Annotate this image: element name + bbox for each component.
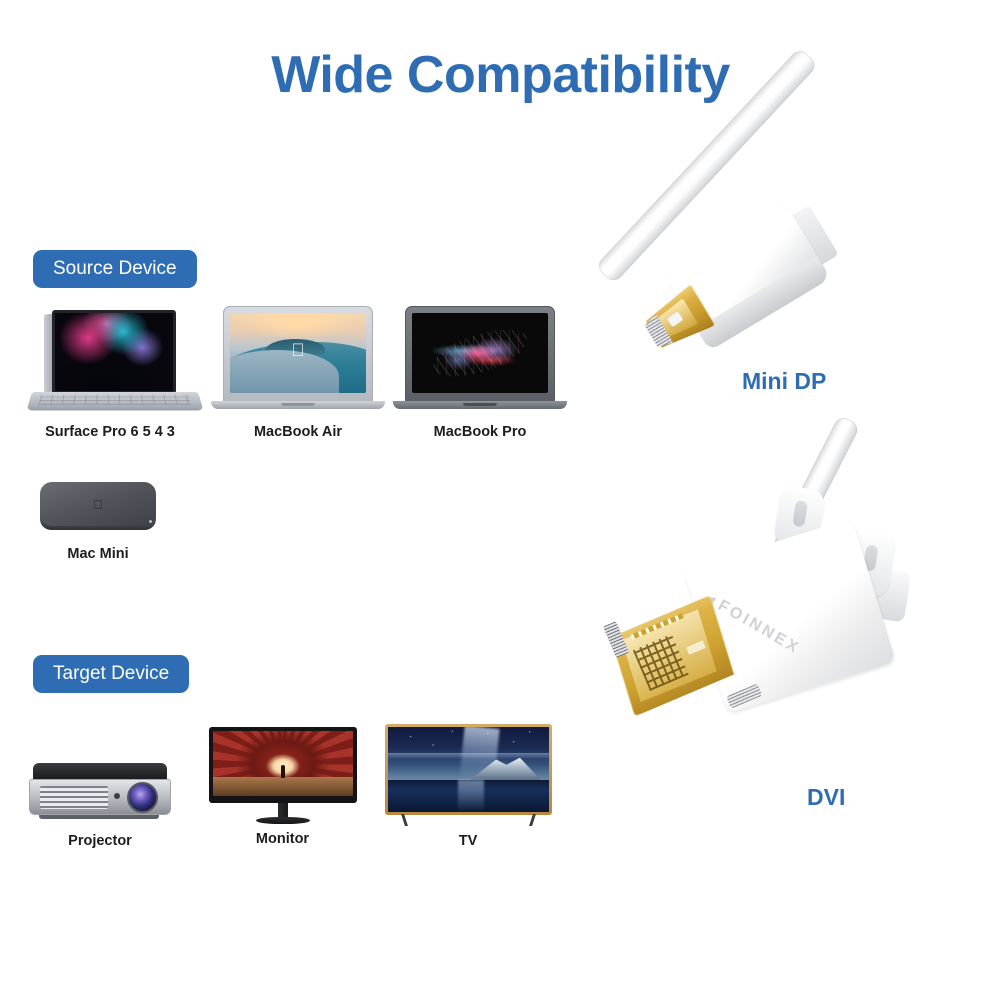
projector-lens xyxy=(127,782,158,813)
device-label: TV xyxy=(378,833,558,849)
surface-screen xyxy=(52,310,176,394)
foinnex-brand-text: FOINNEX xyxy=(715,597,803,658)
projector-icon xyxy=(25,755,175,827)
projector-vents xyxy=(40,786,108,809)
macbook-air-laptop-icon:  xyxy=(209,300,387,418)
monitor-stand-base xyxy=(256,817,310,824)
wallpaper-reflection xyxy=(458,780,484,812)
monitor-stand xyxy=(272,725,294,820)
device-tv: TV xyxy=(378,722,558,849)
monitor-icon xyxy=(203,725,363,825)
surface-keys xyxy=(39,395,192,405)
device-projector: Projector xyxy=(20,755,180,849)
device-surface-pro: Surface Pro 6 5 4 3 xyxy=(10,300,210,440)
television-icon xyxy=(381,722,556,827)
tv-bezel xyxy=(385,724,552,815)
apple-logo-icon:  xyxy=(93,498,103,511)
mac-mini-top-face:  xyxy=(40,482,156,526)
tv-foot-left xyxy=(401,814,408,826)
wallpaper-horizon-glow xyxy=(388,753,549,760)
device-monitor: Monitor xyxy=(200,725,365,847)
macbook-pro-lid xyxy=(405,306,555,403)
projector-body xyxy=(29,779,171,815)
macbook-air-screen:  xyxy=(230,313,366,393)
target-device-badge: Target Device xyxy=(33,655,189,693)
device-label: Mac Mini xyxy=(18,546,178,562)
mac-mini-desktop-icon:  xyxy=(28,470,168,540)
product-cable-illustration: ◂FOINNEX xyxy=(600,90,1001,830)
apple-logo-icon:  xyxy=(291,341,305,359)
device-label: Monitor xyxy=(200,831,365,847)
tv-foot-right xyxy=(529,814,536,826)
macbook-air-base xyxy=(211,401,385,409)
device-macbook-pro: MacBook Pro xyxy=(380,300,580,440)
macbook-pro-trackpad-notch xyxy=(463,403,497,406)
surface-wallpaper xyxy=(55,313,173,391)
device-label: Surface Pro 6 5 4 3 xyxy=(10,424,210,440)
mini-dp-label: Mini DP xyxy=(742,368,826,395)
surface-keyboard-cover xyxy=(26,392,203,410)
macbook-pro-screen xyxy=(412,313,548,393)
dvi-connector-icon: ◂FOINNEX xyxy=(592,487,975,803)
device-label: MacBook Pro xyxy=(380,424,580,440)
dvi-label: DVI xyxy=(807,784,845,811)
macbook-pro-laptop-icon xyxy=(391,300,569,418)
projector-feet xyxy=(39,815,159,819)
macbook-air-trackpad-notch xyxy=(281,403,315,406)
macbook-pro-base xyxy=(393,401,567,409)
projector-sensor xyxy=(114,793,120,799)
device-mac-mini:  Mac Mini xyxy=(18,470,178,562)
monitor-stand-neck xyxy=(278,803,288,817)
device-label: Projector xyxy=(20,833,180,849)
macbook-pro-wallpaper xyxy=(412,313,548,393)
mac-mini-power-led xyxy=(149,520,152,523)
surface-pro-tablet-icon xyxy=(20,300,200,418)
macbook-air-lid:  xyxy=(223,306,373,403)
tv-screen xyxy=(388,727,549,812)
device-macbook-air:  MacBook Air xyxy=(198,300,398,440)
device-label: MacBook Air xyxy=(198,424,398,440)
source-device-badge: Source Device xyxy=(33,250,197,288)
dvi-thumbscrew-slot xyxy=(792,500,808,528)
infographic-page: Wide Compatibility Source Device Surface… xyxy=(0,0,1001,1001)
